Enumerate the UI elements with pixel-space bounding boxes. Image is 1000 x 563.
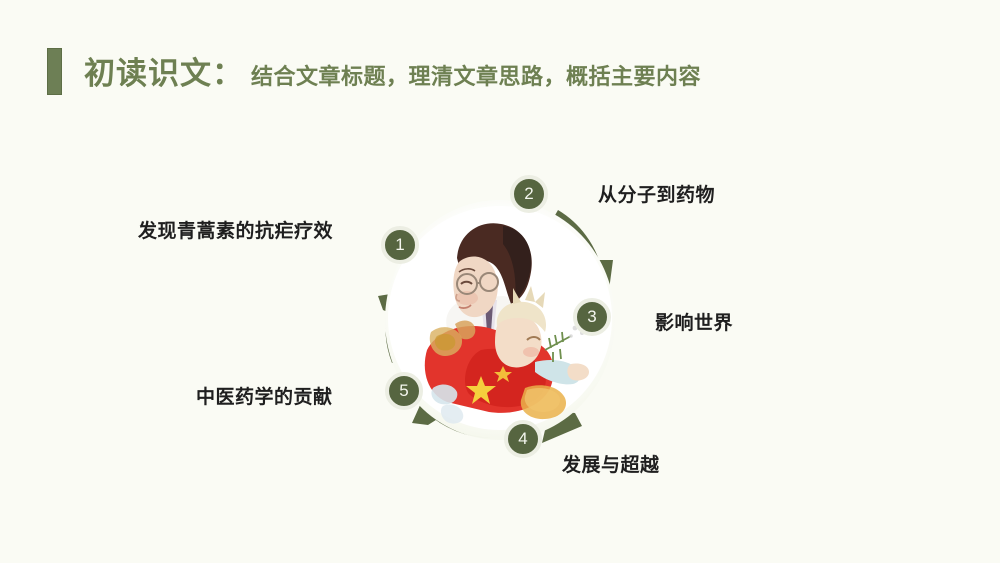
cycle-badge-4[interactable]: 4 <box>504 420 542 458</box>
cycle-badge-5[interactable]: 5 <box>385 372 423 410</box>
step-label-3: 影响世界 <box>655 308 733 335</box>
cycle-badge-2[interactable]: 2 <box>510 175 548 213</box>
page-title-colon: ： <box>212 48 243 93</box>
title-accent-bar <box>47 48 62 95</box>
page-title-subtitle: 结合文章标题，理清文章思路，概括主要内容 <box>251 59 701 91</box>
page-title: 初读识文 ： 结合文章标题，理清文章思路，概括主要内容 <box>84 48 701 95</box>
step-label-2: 从分子到药物 <box>598 180 715 207</box>
cycle-badge-3[interactable]: 3 <box>573 298 611 336</box>
step-label-5: 中医药学的贡献 <box>196 382 333 409</box>
step-label-1: 发现青蒿素的抗疟疗效 <box>138 216 333 243</box>
slide-header: 初读识文 ： 结合文章标题，理清文章思路，概括主要内容 <box>0 0 1000 120</box>
step-label-4: 发展与超越 <box>562 450 660 477</box>
page-title-main: 初读识文 <box>84 48 212 93</box>
cycle-badge-1[interactable]: 1 <box>381 226 419 264</box>
